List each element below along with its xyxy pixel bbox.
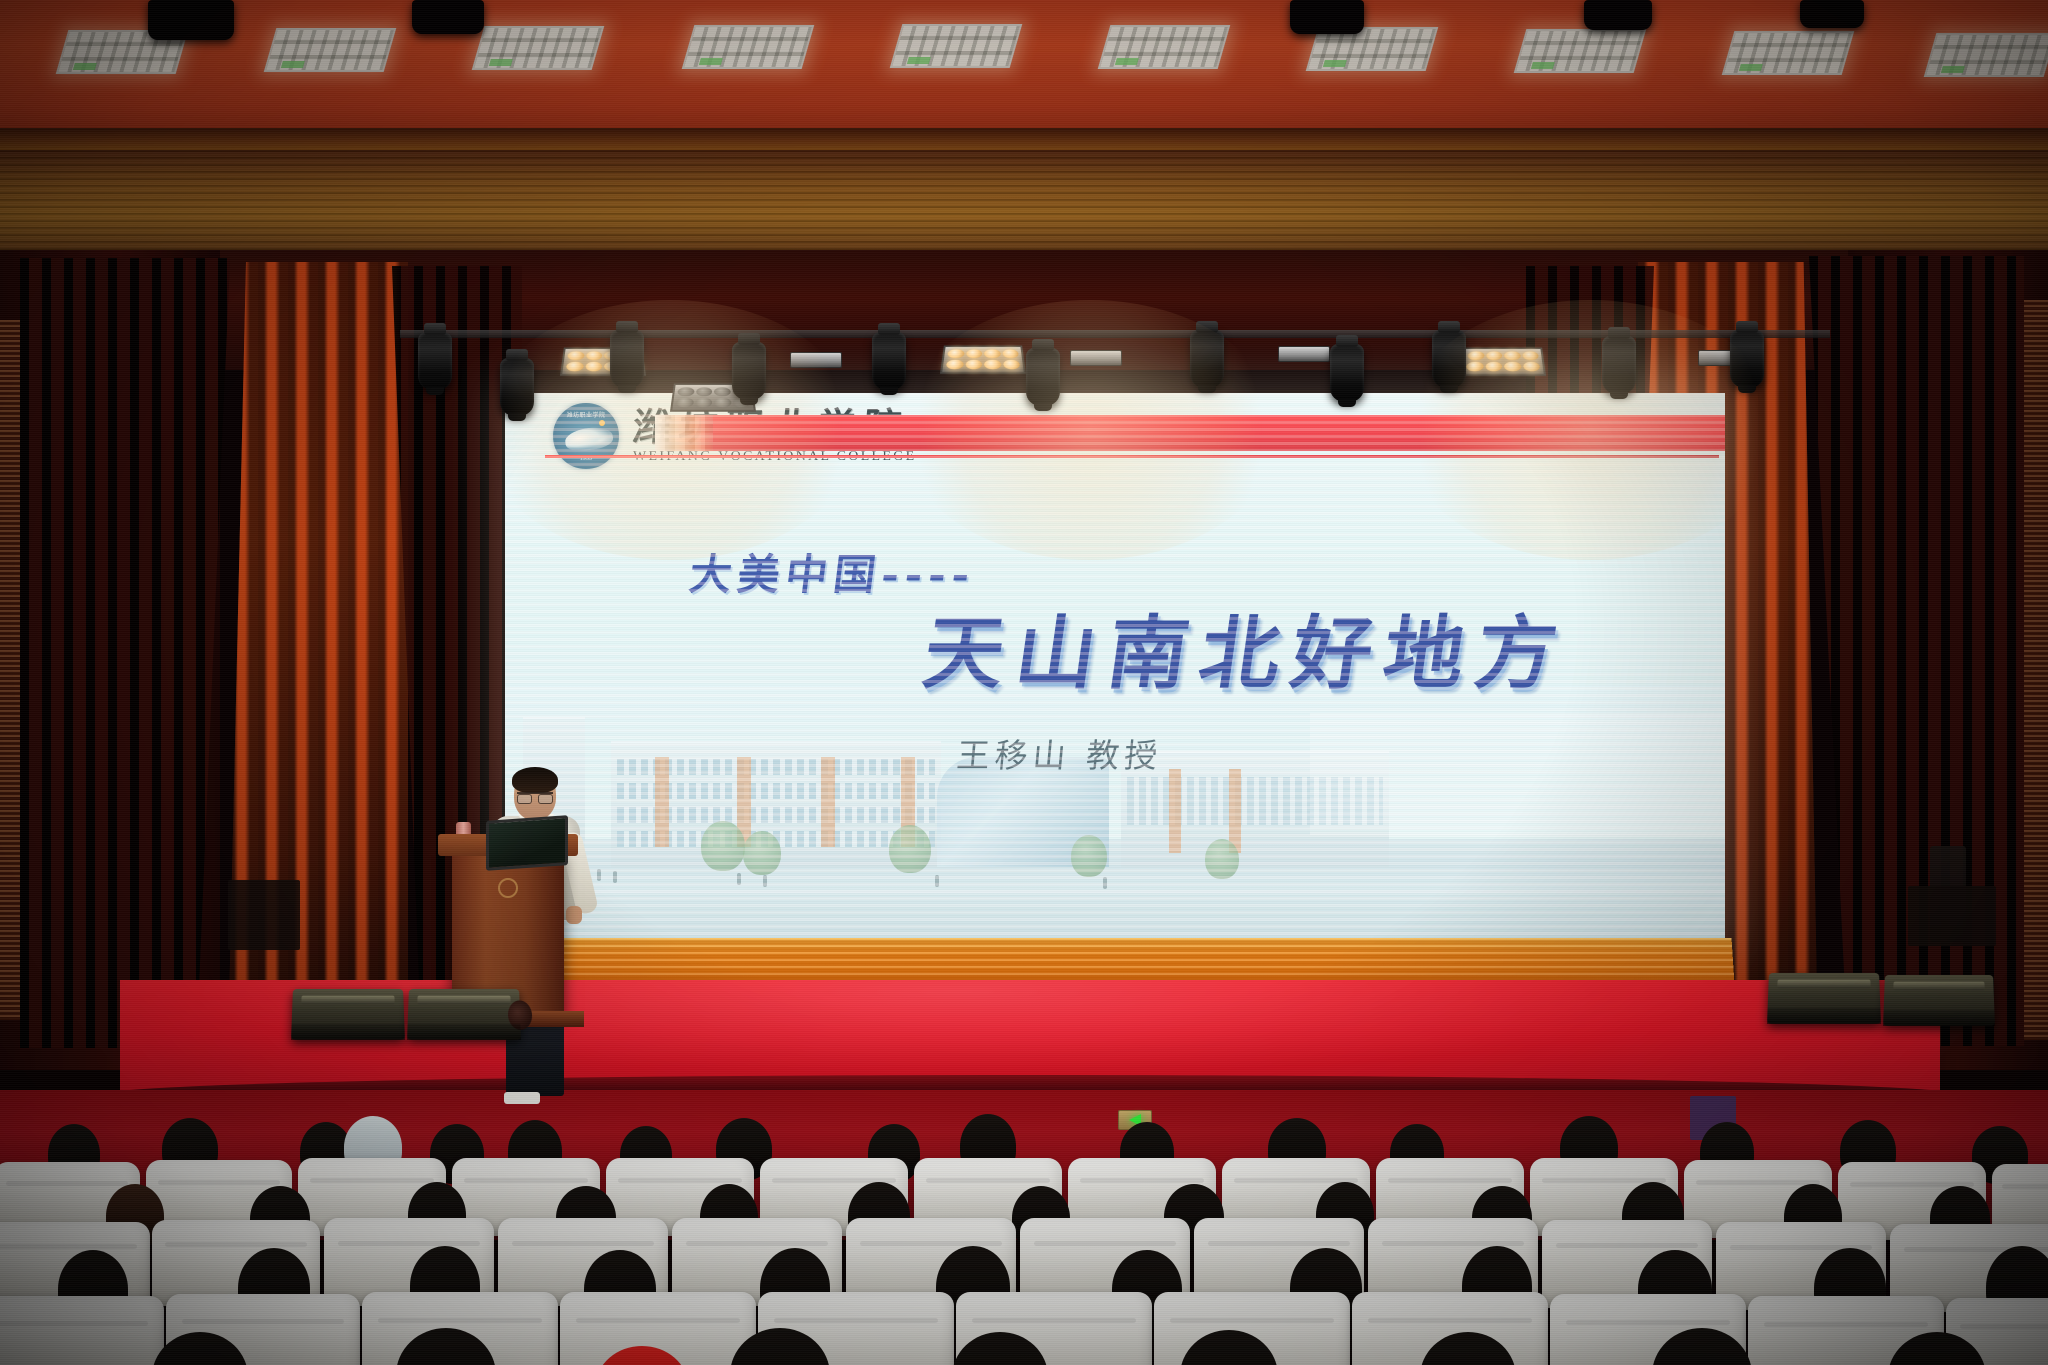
moving-head-light (1026, 348, 1060, 406)
campus-pedestrian (1103, 877, 1107, 889)
moving-head-light (1602, 336, 1636, 394)
led-presentation-screen: 潍坊职业学院 1955 潍坊职业学院 WEIFANG VOCATIONAL CO… (505, 393, 1725, 945)
moving-head-light (610, 330, 644, 388)
auditorium-scene: 潍坊职业学院 1955 潍坊职业学院 WEIFANG VOCATIONAL CO… (0, 0, 2048, 1365)
ceiling-speaker (1584, 0, 1652, 30)
moving-head-light (500, 358, 534, 416)
campus-pedestrian (763, 875, 767, 887)
monitor-driver-cone (508, 1000, 533, 1029)
campus-pedestrian (597, 869, 601, 881)
stage-monitor-wedge (407, 989, 521, 1040)
screen-surface: 潍坊职业学院 1955 潍坊职业学院 WEIFANG VOCATIONAL CO… (505, 393, 1725, 945)
led-blinder-panel (940, 346, 1026, 374)
slide-main-title: 天山南北好地方 (917, 589, 1577, 705)
stage-monitor-wedge (291, 989, 405, 1040)
banner-mosaic-gradient (655, 415, 713, 451)
college-logo-icon: 潍坊职业学院 1955 (553, 403, 619, 469)
stage-screen-skirt (496, 938, 1735, 984)
ceiling-speaker (1800, 0, 1864, 28)
campus-pedestrian (613, 871, 617, 883)
ceiling-speaker (148, 0, 234, 40)
recessed-light-panel (890, 24, 1023, 68)
stage-monitor-wedge (1883, 975, 1995, 1026)
audience-area (0, 1100, 2048, 1365)
ceiling-speaker (412, 0, 484, 34)
moving-head-light (1730, 330, 1764, 388)
logo-wave-shape (564, 425, 615, 453)
moving-head-light (872, 332, 906, 390)
recessed-light-panel (1924, 33, 2048, 77)
led-panel-seam (1310, 713, 1725, 834)
slide-red-banner-bar (701, 415, 1725, 451)
slide-author-text: 王移山 教授 (955, 729, 1165, 777)
moving-head-light (1190, 330, 1224, 388)
led-blinder-panel (1460, 348, 1546, 376)
ceiling-speaker (1290, 0, 1364, 34)
moving-head-light (1330, 344, 1364, 402)
campus-tree (1071, 835, 1107, 877)
recessed-light-panel (1098, 25, 1231, 69)
stage-curtain-left-dark (20, 258, 230, 1048)
campus-tree (889, 825, 931, 873)
stage-monitor-wedge (1767, 973, 1881, 1024)
podium-emblem-icon (498, 878, 518, 898)
audience-seat-white-cover (0, 1296, 164, 1365)
recessed-light-panel (1722, 31, 1855, 75)
moving-head-light (732, 342, 766, 400)
building-accent-panel (1169, 769, 1181, 853)
par-light-strip (790, 352, 842, 368)
slide-header-underline (545, 455, 1719, 458)
logo-accent-dot (599, 420, 605, 426)
campus-tree (1205, 839, 1239, 879)
par-light-strip (1278, 346, 1330, 362)
logo-arc-text: 潍坊职业学院 (556, 410, 616, 419)
par-light-strip (1070, 350, 1122, 366)
recessed-light-panel (1514, 29, 1647, 73)
campus-pedestrian (737, 873, 741, 885)
stage-equipment-box (1908, 886, 1996, 946)
campus-pedestrian (935, 875, 939, 887)
recessed-light-panel (264, 28, 397, 72)
campus-tree (701, 821, 745, 871)
campus-tree (743, 831, 781, 875)
building-accent-panel (1229, 769, 1241, 853)
moving-head-light (418, 332, 452, 390)
recessed-light-panel (472, 26, 605, 70)
presenter-glasses-icon (517, 792, 553, 800)
recessed-light-panel (682, 25, 815, 69)
stage-equipment-box (228, 880, 300, 950)
building-accent-panel (655, 757, 669, 847)
building-accent-panel (821, 757, 835, 847)
presenter-laptop (486, 815, 568, 871)
presenter-hand (566, 906, 582, 924)
presenter-hair (512, 767, 558, 793)
moving-head-light (1432, 330, 1466, 388)
